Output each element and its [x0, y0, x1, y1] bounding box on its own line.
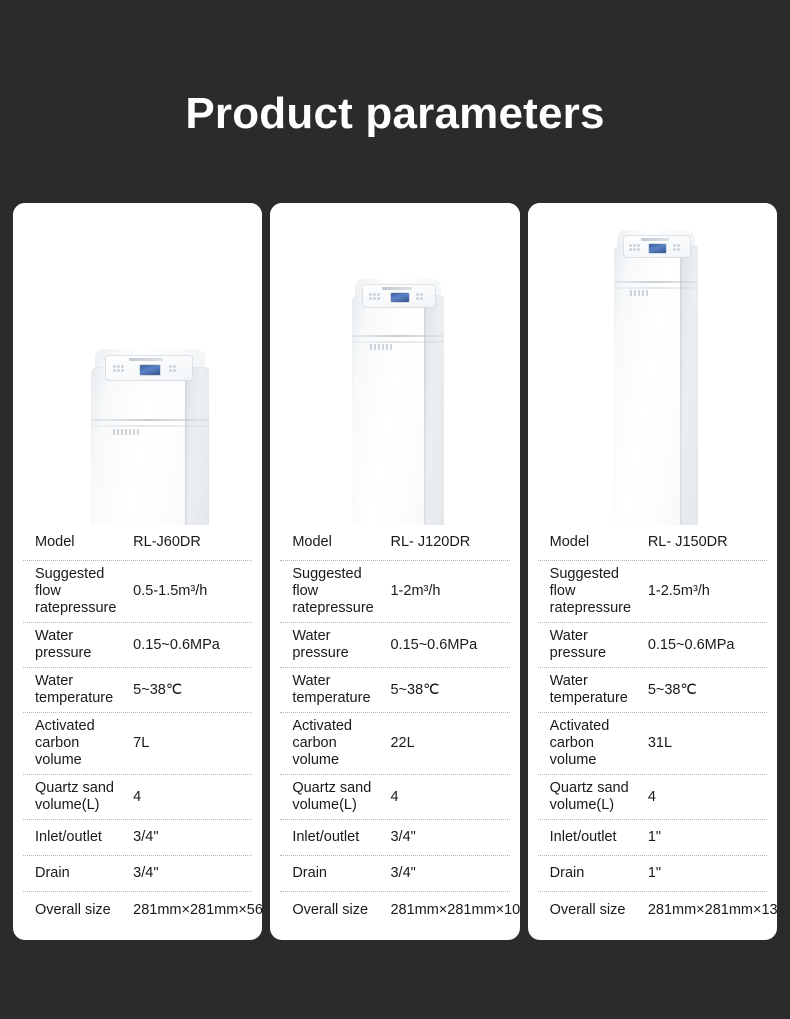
unit-side-face	[185, 367, 209, 525]
lcd-display	[139, 364, 161, 376]
panel-key[interactable]	[113, 369, 116, 372]
spec-value-model: RL-J60DR	[133, 534, 250, 551]
panel-key[interactable]	[673, 248, 676, 251]
spec-value-overall-size: 281mm×281mm×1305mm	[648, 902, 777, 919]
spec-value-flow-rate: 1-2.5m³/h	[648, 583, 765, 600]
spec-label: Drain	[282, 865, 390, 882]
spec-label: Model	[540, 534, 648, 551]
spec-label: Overall size	[282, 902, 390, 919]
panel-key[interactable]	[633, 248, 636, 251]
table-row: Suggested flow ratepressure 1-2m³/h	[280, 561, 509, 623]
panel-keys-right[interactable]	[673, 244, 680, 251]
spec-value-activated-carbon: 7L	[133, 735, 250, 752]
spec-label: Water pressure	[540, 628, 648, 662]
spec-value-overall-size: 281mm×281mm×1036mm	[390, 902, 519, 919]
panel-key[interactable]	[629, 248, 632, 251]
spec-value-activated-carbon: 22L	[390, 735, 507, 752]
spec-label: Inlet/outlet	[25, 829, 133, 846]
spec-label: Drain	[540, 865, 648, 882]
product-cards-container: Model RL-J60DR Suggested flow ratepressu…	[13, 203, 777, 940]
spec-value-water-temperature: 5~38℃	[133, 682, 250, 699]
spec-label: Suggested flow ratepressure	[540, 566, 648, 617]
spec-value-water-pressure: 0.15~0.6MPa	[133, 637, 250, 654]
panel-key[interactable]	[416, 297, 419, 300]
spec-value-flow-rate: 0.5-1.5m³/h	[133, 583, 250, 600]
table-row: Quartz sand volume(L) 4	[280, 775, 509, 820]
table-row: Activated carbon volume 22L	[280, 713, 509, 775]
table-row: Overall size 281mm×281mm×1036mm	[280, 892, 509, 928]
panel-key[interactable]	[677, 244, 680, 247]
spec-value-model: RL- J150DR	[648, 534, 765, 551]
panel-key[interactable]	[677, 248, 680, 251]
table-row: Activated carbon volume 31L	[538, 713, 767, 775]
table-row: Drain 1"	[538, 856, 767, 892]
spec-value-activated-carbon: 31L	[648, 735, 765, 752]
table-row: Activated carbon volume 7L	[23, 713, 252, 775]
product-card-1[interactable]: Model RL-J60DR Suggested flow ratepressu…	[13, 203, 262, 940]
table-row: Suggested flow ratepressure 1-2.5m³/h	[538, 561, 767, 623]
spec-label: Model	[282, 534, 390, 551]
spec-label: Water pressure	[282, 628, 390, 662]
product-parameters-page: Product parameters	[0, 0, 790, 1019]
spec-label: Suggested flow ratepressure	[25, 566, 133, 617]
panel-key[interactable]	[121, 365, 124, 368]
panel-keys-right[interactable]	[416, 293, 423, 300]
unit-seam-band	[91, 419, 209, 421]
table-row: Inlet/outlet 3/4"	[23, 820, 252, 856]
spec-value-quartz-sand: 4	[390, 789, 507, 806]
panel-label-strip	[641, 238, 669, 241]
unit-side-face	[424, 295, 444, 525]
spec-value-inlet-outlet: 1"	[648, 829, 765, 846]
lcd-display	[648, 243, 667, 254]
panel-key[interactable]	[173, 369, 176, 372]
spec-value-water-pressure: 0.15~0.6MPa	[648, 637, 765, 654]
spec-label: Activated carbon volume	[282, 718, 390, 769]
unit-seam-band	[352, 335, 444, 337]
panel-key[interactable]	[633, 244, 636, 247]
brand-logo	[370, 344, 392, 350]
control-panel[interactable]	[105, 355, 193, 381]
spec-label: Overall size	[25, 902, 133, 919]
spec-label: Water temperature	[25, 673, 133, 707]
spec-value-model: RL- J120DR	[390, 534, 507, 551]
lcd-display	[390, 292, 410, 303]
spec-label: Quartz sand volume(L)	[25, 780, 133, 814]
panel-keys-left[interactable]	[113, 365, 124, 372]
panel-key[interactable]	[113, 365, 116, 368]
table-row: Water pressure 0.15~0.6MPa	[280, 623, 509, 668]
table-row: Water temperature 5~38℃	[23, 668, 252, 713]
spec-value-inlet-outlet: 3/4"	[390, 829, 507, 846]
spec-value-water-temperature: 5~38℃	[648, 682, 765, 699]
control-panel[interactable]	[362, 284, 436, 308]
spec-label: Inlet/outlet	[282, 829, 390, 846]
product-image-3	[528, 203, 777, 525]
table-row: Inlet/outlet 3/4"	[280, 820, 509, 856]
panel-label-strip	[382, 287, 412, 290]
table-row: Drain 3/4"	[23, 856, 252, 892]
panel-key[interactable]	[673, 244, 676, 247]
table-row: Overall size 281mm×281mm×1305mm	[538, 892, 767, 928]
spec-label: Water temperature	[282, 673, 390, 707]
table-row: Quartz sand volume(L) 4	[23, 775, 252, 820]
product-unit-illustration	[91, 367, 209, 525]
spec-table-1: Model RL-J60DR Suggested flow ratepressu…	[13, 525, 262, 940]
table-row: Drain 3/4"	[280, 856, 509, 892]
table-row: Water pressure 0.15~0.6MPa	[23, 623, 252, 668]
spec-label: Water pressure	[25, 628, 133, 662]
table-row: Water temperature 5~38℃	[538, 668, 767, 713]
table-row: Model RL-J60DR	[23, 525, 252, 561]
product-card-3[interactable]: Model RL- J150DR Suggested flow ratepres…	[528, 203, 777, 940]
panel-key[interactable]	[169, 365, 172, 368]
spec-table-2: Model RL- J120DR Suggested flow ratepres…	[270, 525, 519, 940]
spec-table-3: Model RL- J150DR Suggested flow ratepres…	[528, 525, 777, 940]
table-row: Quartz sand volume(L) 4	[538, 775, 767, 820]
spec-value-drain: 1"	[648, 865, 765, 882]
panel-key[interactable]	[169, 369, 172, 372]
spec-value-overall-size: 281mm×281mm×566mm	[133, 902, 262, 919]
spec-label: Activated carbon volume	[25, 718, 133, 769]
panel-key[interactable]	[173, 365, 176, 368]
spec-label: Suggested flow ratepressure	[282, 566, 390, 617]
page-title: Product parameters	[0, 86, 790, 142]
panel-key[interactable]	[117, 365, 120, 368]
panel-key[interactable]	[637, 248, 640, 251]
spec-value-flow-rate: 1-2m³/h	[390, 583, 507, 600]
panel-keys-left[interactable]	[369, 293, 380, 300]
panel-key[interactable]	[369, 297, 372, 300]
panel-key[interactable]	[377, 297, 380, 300]
spec-label: Model	[25, 534, 133, 551]
product-image-2	[270, 203, 519, 525]
table-row: Water temperature 5~38℃	[280, 668, 509, 713]
table-row: Water pressure 0.15~0.6MPa	[538, 623, 767, 668]
spec-label: Drain	[25, 865, 133, 882]
product-unit-illustration	[352, 295, 444, 525]
unit-seam-band	[614, 281, 698, 283]
table-row: Inlet/outlet 1"	[538, 820, 767, 856]
product-unit-illustration	[614, 245, 698, 525]
panel-key[interactable]	[416, 293, 419, 296]
table-row: Suggested flow ratepressure 0.5-1.5m³/h	[23, 561, 252, 623]
product-image-1	[13, 203, 262, 525]
spec-label: Overall size	[540, 902, 648, 919]
panel-key[interactable]	[373, 297, 376, 300]
table-row: Model RL- J120DR	[280, 525, 509, 561]
spec-label: Quartz sand volume(L)	[540, 780, 648, 814]
spec-label: Quartz sand volume(L)	[282, 780, 390, 814]
panel-label-strip	[129, 358, 163, 361]
panel-keys-right[interactable]	[169, 365, 176, 372]
brand-logo	[630, 290, 650, 296]
unit-seam-band-2	[91, 425, 209, 427]
panel-key[interactable]	[369, 293, 372, 296]
spec-value-drain: 3/4"	[390, 865, 507, 882]
panel-key[interactable]	[629, 244, 632, 247]
spec-value-inlet-outlet: 3/4"	[133, 829, 250, 846]
spec-value-drain: 3/4"	[133, 865, 250, 882]
panel-keys-left[interactable]	[629, 244, 640, 251]
product-card-2[interactable]: Model RL- J120DR Suggested flow ratepres…	[270, 203, 519, 940]
table-row: Overall size 281mm×281mm×566mm	[23, 892, 252, 928]
spec-value-quartz-sand: 4	[648, 789, 765, 806]
panel-key[interactable]	[117, 369, 120, 372]
table-row: Model RL- J150DR	[538, 525, 767, 561]
panel-key[interactable]	[420, 297, 423, 300]
unit-seam-band-2	[614, 287, 698, 289]
spec-label: Water temperature	[540, 673, 648, 707]
spec-value-water-temperature: 5~38℃	[390, 682, 507, 699]
spec-value-water-pressure: 0.15~0.6MPa	[390, 637, 507, 654]
control-panel[interactable]	[623, 235, 691, 258]
unit-seam-band-2	[352, 341, 444, 343]
spec-label: Inlet/outlet	[540, 829, 648, 846]
spec-label: Activated carbon volume	[540, 718, 648, 769]
panel-key[interactable]	[377, 293, 380, 296]
panel-key[interactable]	[373, 293, 376, 296]
brand-logo	[113, 429, 139, 435]
spec-value-quartz-sand: 4	[133, 789, 250, 806]
panel-key[interactable]	[637, 244, 640, 247]
panel-key[interactable]	[121, 369, 124, 372]
panel-key[interactable]	[420, 293, 423, 296]
